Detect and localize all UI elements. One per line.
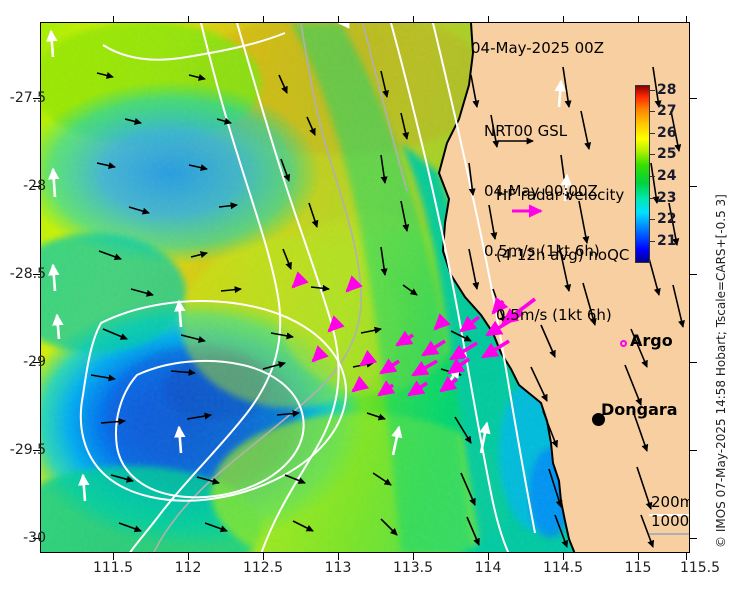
yticklabel--28: -28 (23, 178, 46, 194)
colorbar-label-22: 22 (657, 211, 676, 227)
colorbar-tick-28 (650, 90, 655, 91)
colorbar-label-26: 26 (657, 125, 676, 141)
colorbar-label-24: 24 (657, 168, 676, 184)
hf-legend-line2: (4-12h avg) noQC (496, 245, 629, 265)
colorbar-tick-21 (650, 241, 655, 242)
colorbar-label-27: 27 (657, 103, 676, 119)
argo-legend-label: Argo (630, 331, 673, 350)
map-plot-area[interactable]: 04-May-2025 00Z NRT00 GSL 04-May 00:00Z … (40, 22, 690, 553)
yticklabel--29: -29 (23, 354, 46, 370)
yticklabel--27.5: -27.5 (10, 90, 46, 106)
colorbar-tick-22 (650, 219, 655, 220)
figure-root: 04-May-2025 00Z NRT00 GSL 04-May 00:00Z … (0, 0, 740, 592)
xtick-top-114.5 (563, 16, 564, 23)
ytick-right--30 (690, 538, 697, 539)
ytick-right--29.5 (690, 450, 697, 451)
gsl-legend-line1: NRT00 GSL (484, 121, 600, 141)
xticklabel-112.5: 112.5 (243, 560, 283, 576)
colorbar-tick-26 (650, 133, 655, 134)
colorbar-tick-27 (650, 111, 655, 112)
xtick-114 (488, 553, 489, 560)
xticklabel-115: 115 (625, 560, 652, 576)
xtick-top-112.5 (263, 16, 264, 23)
yticklabel--30: -30 (23, 530, 46, 546)
xtick-top-113.5 (413, 16, 414, 23)
xtick-115 (638, 553, 639, 560)
date-stamp: 04-May-2025 00Z (471, 39, 604, 57)
ytick-right--29 (690, 362, 697, 363)
xtick-top-113 (338, 16, 339, 23)
map-clip: 04-May-2025 00Z NRT00 GSL 04-May 00:00Z … (41, 23, 689, 552)
colorbar-tick-24 (650, 176, 655, 177)
yticklabel--29.5: -29.5 (10, 442, 46, 458)
copyright-credit: © IMOS 07-May-2025 14:58 Hobart; Tscale=… (714, 194, 728, 548)
colorbar-label-23: 23 (657, 190, 676, 206)
hf-legend-line3: 0.5m/s (1kt 6h) (496, 305, 629, 325)
depth-200m-label: 200m (651, 493, 689, 511)
colorbar-tick-25 (650, 154, 655, 155)
xticklabel-113: 113 (325, 560, 352, 576)
colorbar-label-28: 28 (657, 82, 676, 98)
ytick-right--28 (690, 186, 697, 187)
yticklabel--28.5: -28.5 (10, 266, 46, 282)
colorbar-label-25: 25 (657, 146, 676, 162)
xtick-114.5 (563, 553, 564, 560)
argo-marker-icon (620, 340, 627, 347)
ytick-right--27.5 (690, 98, 697, 99)
colorbar-gradient (635, 85, 650, 263)
depth-1000m-label: 1000m (651, 512, 689, 530)
xtick-113 (338, 553, 339, 560)
depth-1000m-swatch (649, 533, 689, 535)
hf-legend-line1: HF radar velocity (496, 185, 629, 205)
xticklabel-112: 112 (175, 560, 202, 576)
xticklabel-113.5: 113.5 (393, 560, 433, 576)
xtick-top-115 (638, 16, 639, 23)
xtick-113.5 (413, 553, 414, 560)
xtick-115.5 (686, 553, 687, 560)
colorbar-tick-23 (650, 198, 655, 199)
xtick-top-114 (488, 16, 489, 23)
xticklabel-114.5: 114.5 (543, 560, 583, 576)
colorbar-label-21: 21 (657, 233, 676, 249)
xtick-111.5 (113, 553, 114, 560)
xtick-top-112 (188, 16, 189, 23)
xticklabel-114: 114 (475, 560, 502, 576)
xtick-top-115.5 (686, 16, 687, 23)
ytick-right--28.5 (690, 274, 697, 275)
xtick-top-111.5 (113, 16, 114, 23)
xticklabel-111.5: 111.5 (93, 560, 133, 576)
dongara-label: Dongara (601, 400, 678, 419)
xticklabel-115.5: 115.5 (680, 560, 720, 576)
hf-radar-legend-block: HF radar velocity (4-12h avg) noQC 0.5m/… (496, 145, 629, 365)
xtick-112 (188, 553, 189, 560)
xtick-112.5 (263, 553, 264, 560)
